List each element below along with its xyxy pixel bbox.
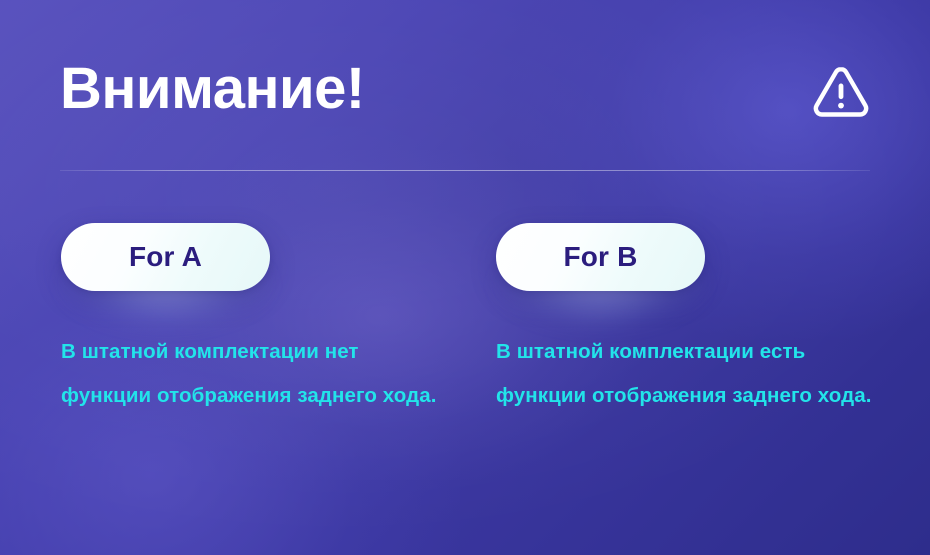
warning-slide: Внимание! For A В штатной комплектации н… [0,0,930,555]
for-b-button[interactable]: For B [496,223,705,291]
column-for-b: For B В штатной комплектации есть функци… [496,214,896,282]
for-a-button[interactable]: For A [61,223,270,291]
for-a-description: В штатной комплектации нет функции отобр… [61,330,453,418]
for-a-button-label: For A [129,243,202,271]
column-for-a: For A В штатной комплектации нет функции… [61,214,461,282]
pill-button-a-wrapper: For A [61,214,270,282]
slide-header: Внимание! [60,52,872,138]
comparison-columns: For A В штатной комплектации нет функции… [0,214,930,494]
header-divider [60,170,870,171]
for-b-description: В штатной комплектации есть функции отоб… [496,330,888,418]
for-b-button-label: For B [563,243,637,271]
warning-triangle-icon [812,64,870,118]
pill-button-b-wrapper: For B [496,214,705,282]
page-title: Внимание! [60,52,365,126]
